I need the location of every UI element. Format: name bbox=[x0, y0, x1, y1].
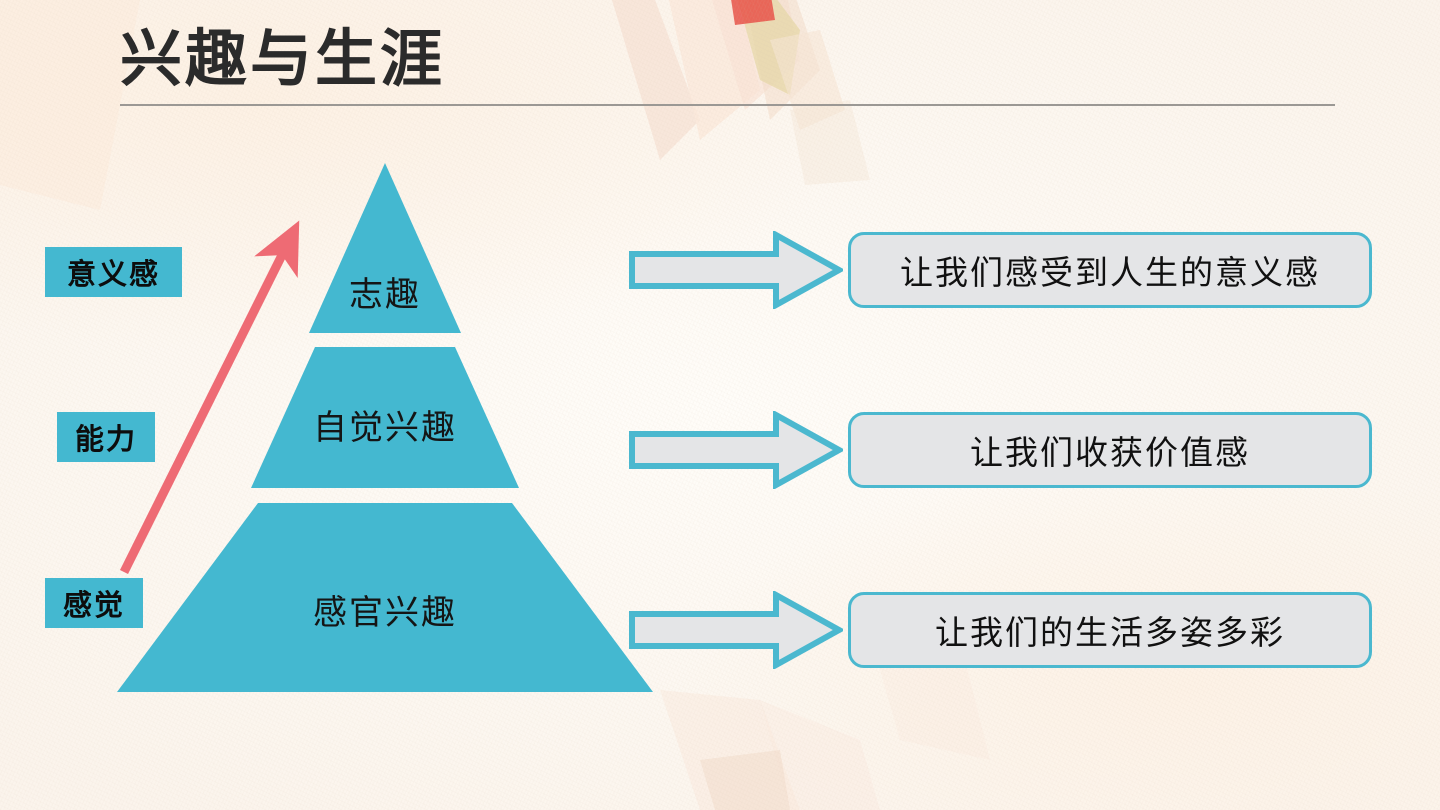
outcome-text-value: 让我们收获价值感 bbox=[970, 426, 1250, 474]
right-block-arrow-icon-1 bbox=[628, 231, 843, 309]
interest-pyramid bbox=[0, 0, 1440, 810]
pyramid-tier-bottom-label: 感官兴趣 bbox=[205, 585, 565, 634]
outcome-text-meaning: 让我们感受到人生的意义感 bbox=[900, 246, 1320, 294]
outcome-box-meaning: 让我们感受到人生的意义感 bbox=[848, 232, 1372, 308]
right-block-arrow-icon-2 bbox=[628, 411, 843, 489]
pyramid-tier-top-label: 志趣 bbox=[285, 267, 485, 316]
outcome-box-colorful-life: 让我们的生活多姿多彩 bbox=[848, 592, 1372, 668]
outcome-text-colorful-life: 让我们的生活多姿多彩 bbox=[935, 606, 1285, 654]
pyramid-tier-middle-label: 自觉兴趣 bbox=[245, 400, 525, 449]
right-block-arrow-icon-3 bbox=[628, 591, 843, 669]
slide-canvas: 兴趣与生涯 意义感 能力 感觉 志趣 自觉兴趣 感官兴趣 bbox=[0, 0, 1440, 810]
outcome-box-value: 让我们收获价值感 bbox=[848, 412, 1372, 488]
